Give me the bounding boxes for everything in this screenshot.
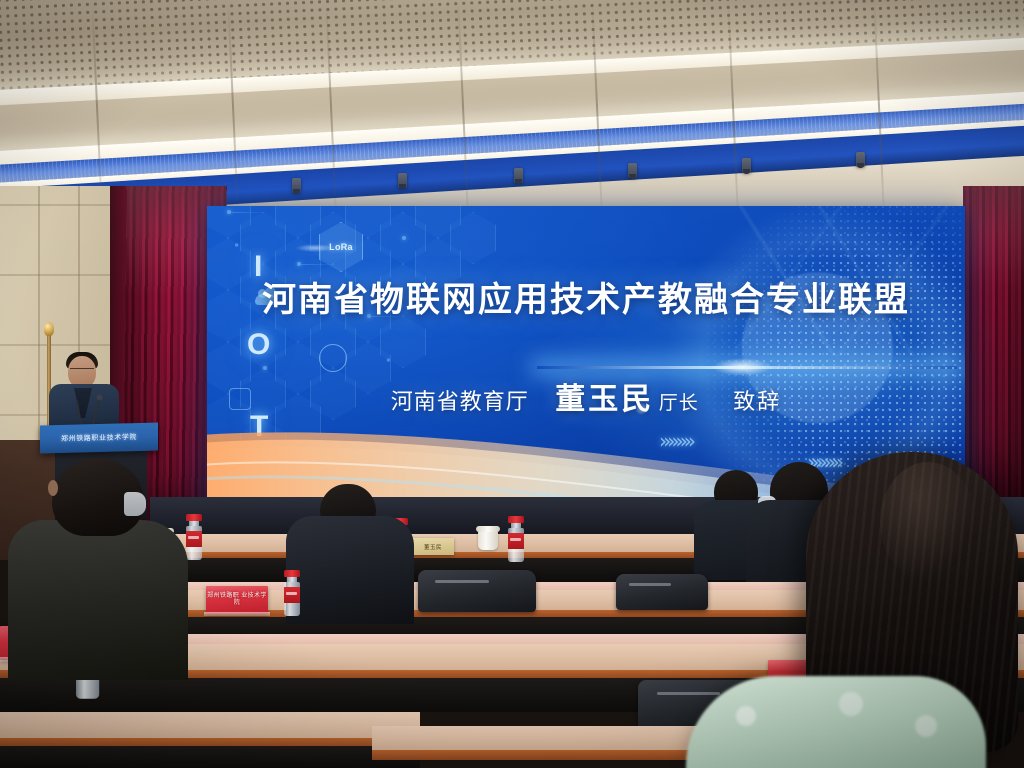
- spotlight-fixture: [856, 152, 865, 167]
- spotlight-fixture: [628, 163, 637, 178]
- laptop-bag: [616, 574, 708, 610]
- second-row-attendee-body: [286, 516, 414, 624]
- hair-highlight: [880, 462, 976, 582]
- placard-text: 郑州铁路职 业技术学院: [206, 593, 268, 608]
- table-edge: [372, 750, 712, 760]
- table-front-panel: [0, 746, 420, 768]
- flag-finial-icon: [44, 322, 54, 336]
- water-bottle: [186, 514, 202, 560]
- stage-curtain-right: [963, 186, 1024, 506]
- foreground-left-attendee-ear: [48, 480, 58, 496]
- subtitle-organization: 河南省教育厅: [391, 389, 529, 414]
- spotlight-fixture: [292, 178, 301, 193]
- conference-hall-photo: LoRa I O T »»»» »»»»: [0, 0, 1024, 768]
- curtain-shading: [963, 186, 1024, 506]
- name-placard-second-row: 郑州铁路职 业技术学院: [206, 586, 268, 614]
- ring-icon: [319, 344, 347, 372]
- laptop-bag: [418, 570, 536, 612]
- placard-text: 董玉民: [424, 543, 442, 551]
- subtitle-speaker-title: 厅长: [659, 393, 699, 414]
- spotlight-fixture: [514, 168, 523, 183]
- face-mask-icon: [124, 492, 146, 516]
- ceiling: [0, 0, 1024, 212]
- foreground-left-attendee-body: [8, 520, 188, 680]
- iot-letter-o: O: [247, 328, 270, 362]
- spotlight-fixture: [742, 158, 751, 173]
- screen-title: 河南省物联网应用技术产教融合专业联盟: [207, 272, 965, 321]
- lens-flare-small-2: [295, 244, 335, 252]
- mint-fur-garment: [686, 676, 986, 768]
- placard-stand: [204, 612, 270, 616]
- lidded-teacup: [478, 530, 498, 550]
- subtitle-speaker-name: 董玉民: [555, 383, 654, 416]
- speaker-glasses-icon: [70, 368, 94, 374]
- water-bottle: [284, 570, 300, 616]
- speaking-podium: 郑州铁路职业技术学院: [40, 423, 158, 454]
- screen-subtitle: 河南省教育厅 董玉民 厅长 致辞: [207, 374, 965, 418]
- table-row-4b: [372, 726, 712, 752]
- spotlight-fixture: [398, 173, 407, 188]
- podium-institution-label: 郑州铁路职业技术学院: [61, 432, 137, 444]
- name-placard-head-table: 董玉民: [412, 538, 454, 555]
- water-bottle: [508, 516, 524, 562]
- subtitle-action: 致辞: [733, 389, 781, 414]
